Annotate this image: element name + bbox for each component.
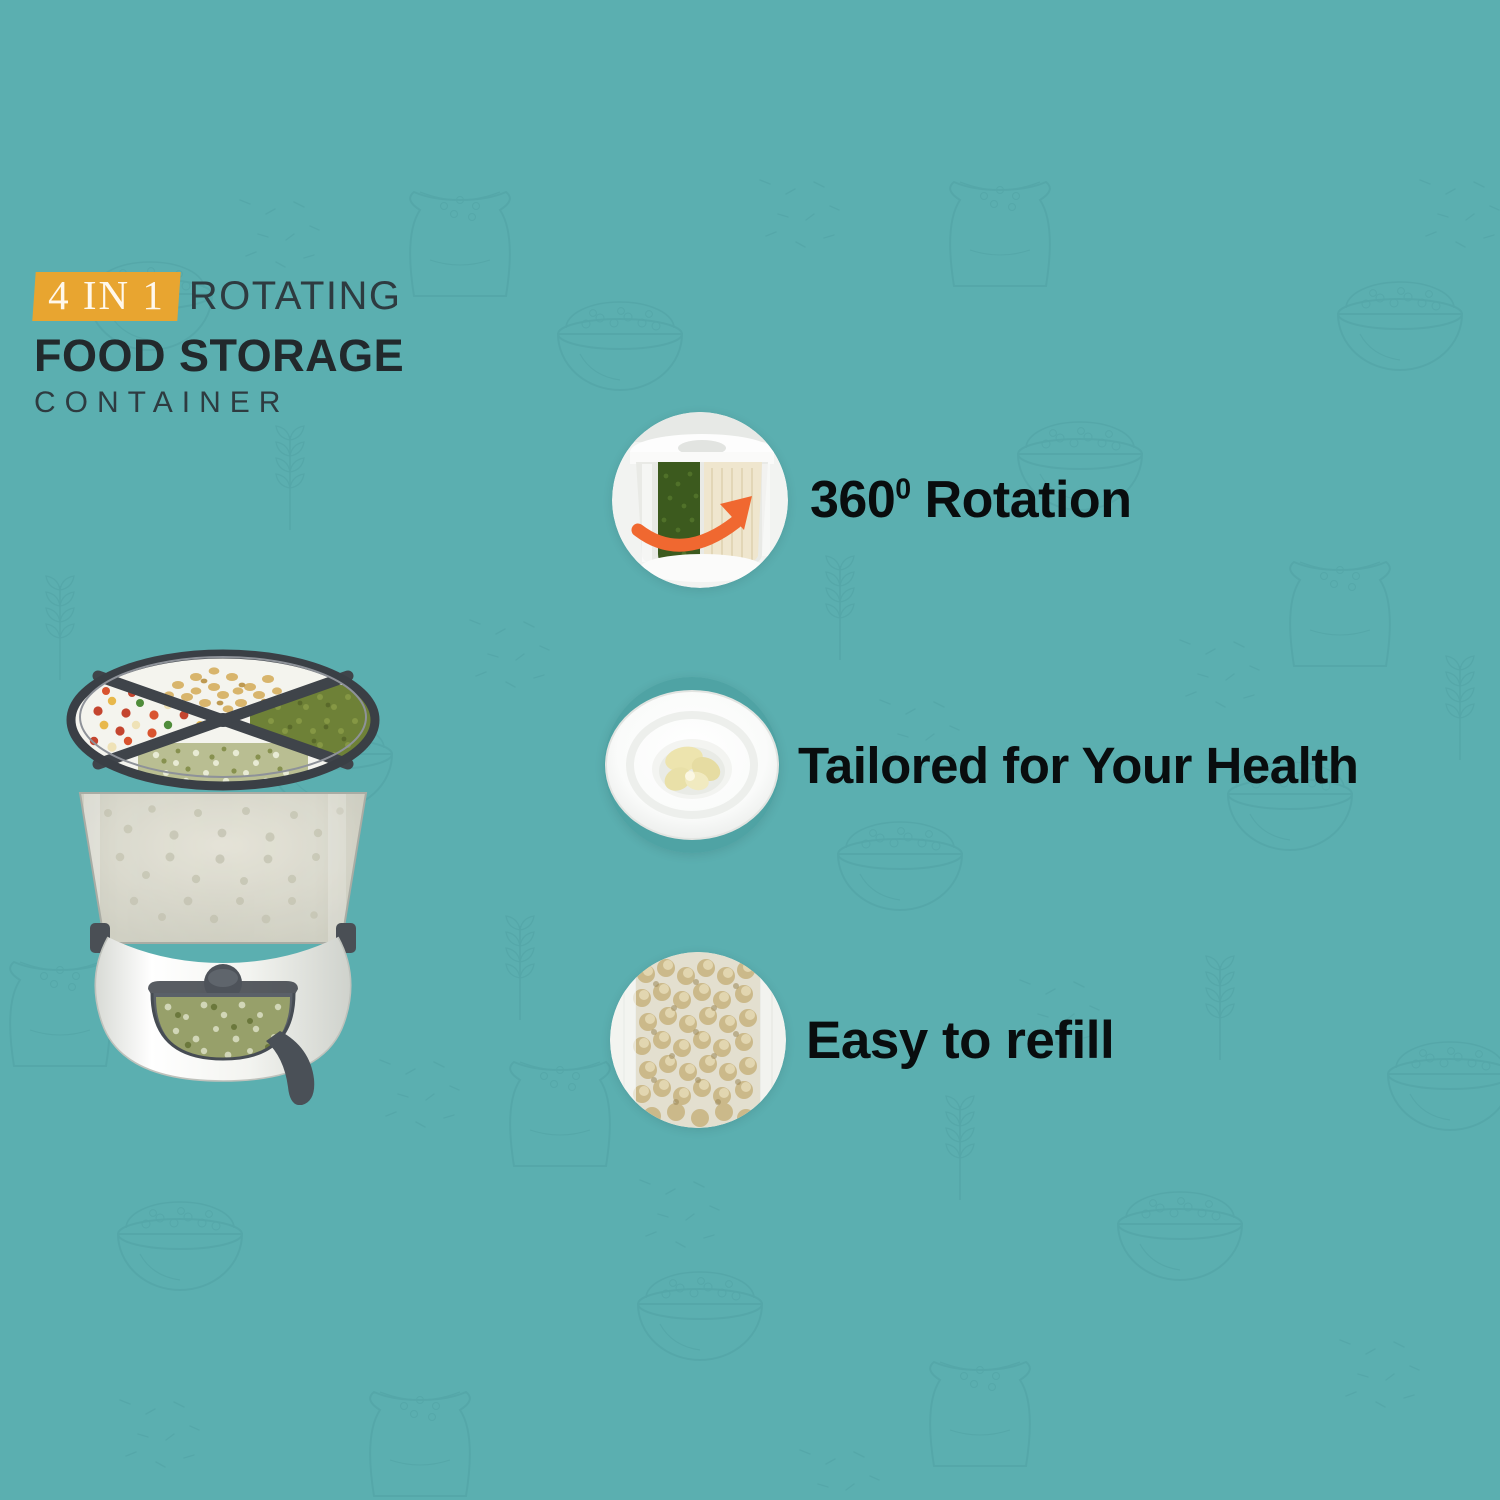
feature-row-rotation: 3600 Rotation	[612, 412, 1131, 588]
degree-superscript: 0	[895, 474, 910, 506]
feature-label-refill: Easy to refill	[806, 1014, 1114, 1067]
feature-label-rotation: 3600 Rotation	[810, 474, 1131, 526]
four-in-one-badge: 4 IN 1	[32, 272, 180, 321]
rotating-container-thumbnail	[612, 412, 788, 588]
badge-label: 4 IN 1	[48, 275, 165, 316]
title-sub: CONTAINER	[34, 388, 514, 418]
measuring-cup	[148, 989, 314, 1105]
title-line-one: 4 IN 1 ROTATING	[34, 272, 514, 322]
product-infographic: 4 IN 1 ROTATING FOOD STORAGE CONTAINER	[0, 0, 1500, 1500]
feature-label-rotation-number: 360	[810, 471, 895, 529]
feature-row-refill: Easy to refill	[610, 952, 1114, 1128]
feature-row-health: Tailored for Your Health	[604, 677, 1358, 853]
feature-label-rotation-rest: Rotation	[911, 471, 1132, 529]
garlic-lid-thumbnail	[604, 677, 780, 853]
container-body	[80, 793, 366, 943]
feature-label-health: Tailored for Your Health	[798, 740, 1358, 791]
four-compartment-lid	[68, 650, 378, 791]
title-rotating: ROTATING	[189, 276, 402, 316]
hero-product-image	[28, 545, 418, 1105]
title-main: FOOD STORAGE	[34, 333, 514, 378]
title-block: 4 IN 1 ROTATING FOOD STORAGE CONTAINER	[34, 272, 514, 418]
chickpeas-container-thumbnail	[610, 952, 786, 1128]
